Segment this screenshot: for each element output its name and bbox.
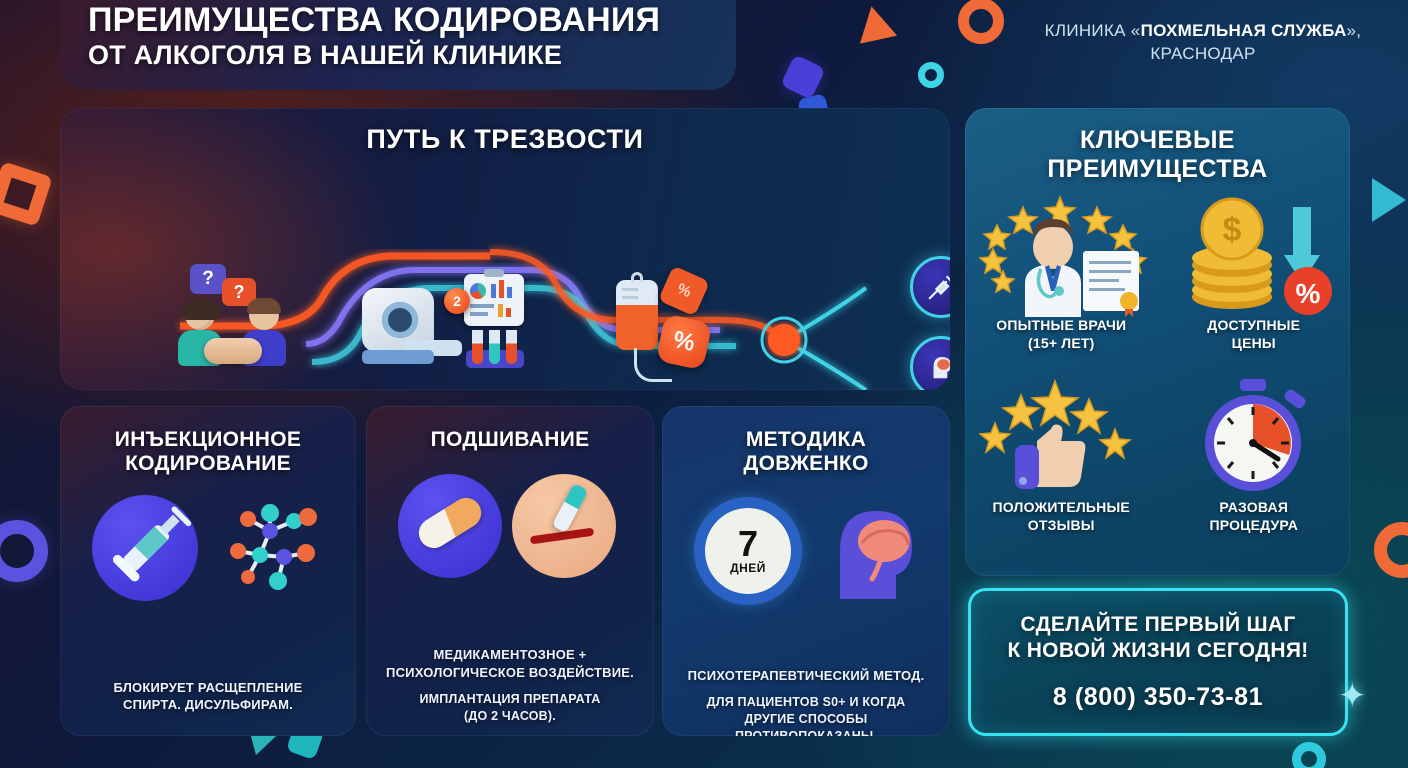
- handshake-icon: [204, 338, 262, 364]
- roadmap-title: ПУТЬ К ТРЕЗВОСТИ: [60, 124, 950, 155]
- page-title-line1: ПРЕИМУЩЕСТВА КОДИРОВАНИЯ: [88, 2, 736, 38]
- method-card-dovzhenko-text: ПСИХОТЕРАПЕВТИЧЕСКИЙ МЕТОД.: [662, 667, 950, 685]
- decor-cyan-triangle-outline-right: [1372, 178, 1406, 222]
- page-title-line2: ОТ АЛКОГОЛЯ В НАШЕЙ КЛИНИКЕ: [88, 41, 736, 71]
- benefits-title: КЛЮЧЕВЫЕПРЕИМУЩЕСТВА: [965, 126, 1350, 183]
- iv-drip-icon: [616, 280, 658, 350]
- method-card-implant-subtext: ИМПЛАНТАЦИЯ ПРЕПАРАТА(ДО 2 ЧАСОВ).: [366, 691, 654, 725]
- svg-text:$: $: [1222, 211, 1241, 249]
- syringe-icon: [88, 493, 200, 605]
- test-tubes-icon: [466, 328, 526, 372]
- molecule-icon: [208, 497, 332, 609]
- method-card-implant: ПОДШИВАНИЕ МЕДИКАМЕНТОЗНОЕ +ПСИХОЛОГИЧЕС…: [366, 406, 654, 736]
- benefits-grid: ОПЫТНЫЕ ВРАЧИ(15+ ЛЕТ) $: [965, 191, 1350, 555]
- method-card-injection-art: [60, 487, 356, 637]
- benefit-label-doctors: ОПЫТНЫЕ ВРАЧИ(15+ ЛЕТ): [965, 317, 1158, 352]
- syringe-icon: [926, 272, 950, 302]
- step-badge-2-top: 2: [444, 288, 470, 314]
- stopwatch-icon: [1158, 373, 1351, 499]
- page-title-card: ПРЕИМУЩЕСТВА КОДИРОВАНИЯ ОТ АЛКОГОЛЯ В Н…: [60, 0, 736, 90]
- clock-unit: ДНЕЙ: [730, 561, 766, 575]
- benefit-label-single-procedure: РАЗОВАЯПРОЦЕДУРА: [1158, 499, 1351, 534]
- decor-violet-ring-left: [0, 520, 48, 582]
- benefit-item-single-procedure: РАЗОВАЯПРОЦЕДУРА: [1158, 373, 1351, 555]
- method-card-implant-text: МЕДИКАМЕНТОЗНОЕ +ПСИХОЛОГИЧЕСКОЕ ВОЗДЕЙС…: [366, 646, 654, 681]
- decor-cyan-ring-bottom: [1292, 742, 1326, 768]
- method-card-dovzhenko-subtext: ДЛЯ ПАЦИЕНТОВ S0+ И КОГДАДРУГИЕ СПОСОБЫП…: [662, 694, 950, 736]
- method-card-implant-art: [366, 462, 654, 612]
- method-card-injection-title: ИНЪЕКЦИОННОЕКОДИРОВАНИЕ: [60, 428, 356, 477]
- method-card-dovzhenko-art: 7 ДНЕЙ: [662, 487, 950, 637]
- brand-name: ПОХМЕЛЬНАЯ СЛУЖБА: [1141, 21, 1347, 40]
- incision-implant-icon: [512, 474, 616, 578]
- method-card-dovzhenko: МЕТОДИКАДОВЖЕНКО 7 ДНЕЙ ПСИХОТЕРАПЕВТИЧЕ…: [662, 406, 950, 736]
- benefit-label-reviews: ПОЛОЖИТЕЛЬНЫЕОТЗЫВЫ: [965, 499, 1158, 534]
- question-bubble-violet: ?: [190, 264, 226, 294]
- discount-tag-icon: %: [658, 266, 710, 317]
- decor-violet-square-top: [780, 54, 825, 99]
- benefit-item-prices: $ % ДОСТУПНЫЕЦЕНЫ: [1158, 191, 1351, 373]
- capsule-pill-icon: [398, 474, 502, 578]
- decor-orange-square-left: [0, 161, 53, 227]
- brand-prefix: КЛИНИКА «: [1045, 21, 1141, 40]
- coins-discount-icon: $ %: [1158, 191, 1351, 317]
- method-card-injection: ИНЪЕКЦИОННОЕКОДИРОВАНИЕ: [60, 406, 356, 736]
- method-card-injection-text: БЛОКИРУЕТ РАСЩЕПЛЕНИЕСПИРТА. ДИСУЛЬФИРАМ…: [60, 679, 356, 714]
- svg-text:%: %: [1295, 278, 1320, 309]
- benefit-item-reviews: ПОЛОЖИТЕЛЬНЫЕОТЗЫВЫ: [965, 373, 1158, 555]
- thumbs-up-stars-icon: [965, 373, 1158, 499]
- clinic-brand: КЛИНИКА «ПОХМЕЛЬНАЯ СЛУЖБА», КРАСНОДАР: [1038, 20, 1368, 66]
- cta-box[interactable]: СДЕЛАЙТЕ ПЕРВЫЙ ШАГК НОВОЙ ЖИЗНИ СЕГОДНЯ…: [968, 588, 1348, 736]
- brain-head-icon: [926, 352, 950, 382]
- method-card-implant-title: ПОДШИВАНИЕ: [366, 428, 654, 452]
- step-1-art: ? ?: [170, 266, 320, 376]
- doctor-certificate-icon: [965, 191, 1158, 317]
- cta-text: СДЕЛАЙТЕ ПЕРВЫЙ ШАГК НОВОЙ ЖИЗНИ СЕГОДНЯ…: [1007, 612, 1308, 662]
- roadmap-panel: ПУТЬ К ТРЕЗВОСТИ ? ?: [60, 108, 950, 390]
- clock-7-days-icon: 7 ДНЕЙ: [694, 497, 802, 605]
- clipboard-chart-icon: [464, 274, 524, 326]
- infographic-canvas: ПРЕИМУЩЕСТВА КОДИРОВАНИЯ ОТ АЛКОГОЛЯ В Н…: [0, 0, 1408, 768]
- decor-cyan-ring-top: [918, 62, 944, 88]
- benefits-panel: КЛЮЧЕВЫЕПРЕИМУЩЕСТВА: [965, 108, 1350, 576]
- sparkle-icon: ✦: [1338, 676, 1408, 754]
- decor-orange-triangle-top: [853, 2, 897, 43]
- decor-orange-ring-right: [1374, 522, 1408, 578]
- decor-cyan-triangle-right: [1376, 182, 1406, 222]
- cta-phone[interactable]: 8 (800) 350-73-81: [1053, 683, 1263, 712]
- decor-orange-ring-top: [958, 0, 1004, 44]
- benefit-label-prices: ДОСТУПНЫЕЦЕНЫ: [1158, 317, 1351, 352]
- clock-number: 7: [738, 527, 758, 561]
- brain-head-icon: [814, 499, 922, 603]
- method-card-dovzhenko-title: МЕТОДИКАДОВЖЕНКО: [662, 428, 950, 477]
- step-3-art: % %: [608, 270, 728, 390]
- benefit-item-doctors: ОПЫТНЫЕ ВРАЧИ(15+ ЛЕТ): [965, 191, 1158, 373]
